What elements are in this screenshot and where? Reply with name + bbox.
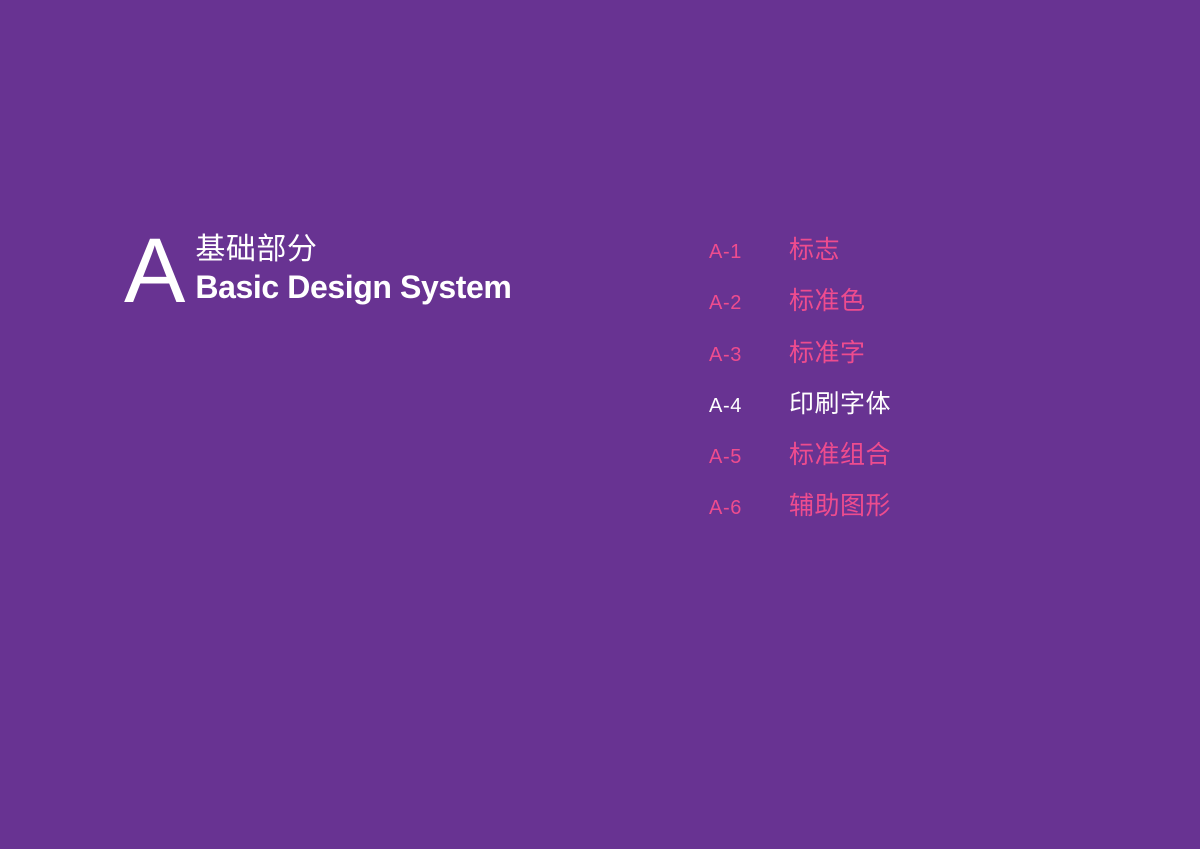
contents-label: 标准色 <box>789 275 866 326</box>
contents-row-a-2[interactable]: A-2 标准色 <box>709 275 891 326</box>
contents-label: 标准字 <box>789 327 866 378</box>
contents-row-a-4[interactable]: A-4 印刷字体 <box>709 378 891 429</box>
contents-code: A-6 <box>709 483 789 534</box>
contents-label: 标志 <box>789 224 840 275</box>
contents-code: A-5 <box>709 432 789 483</box>
section-title-chinese: 基础部分 <box>195 232 511 269</box>
contents-code: A-4 <box>709 381 789 432</box>
contents-row-a-5[interactable]: A-5 标准组合 <box>709 429 891 480</box>
contents-label: 标准组合 <box>789 429 891 480</box>
contents-row-a-3[interactable]: A-3 标准字 <box>709 327 891 378</box>
contents-code: A-3 <box>709 330 789 381</box>
section-title-block: A 基础部分 Basic Design System <box>124 228 511 314</box>
section-title-text-group: 基础部分 Basic Design System <box>195 232 511 305</box>
contents-code: A-1 <box>709 227 789 278</box>
contents-label: 辅助图形 <box>789 480 891 531</box>
brand-guideline-divider-page: A 基础部分 Basic Design System A-1 标志 A-2 标准… <box>0 0 1200 849</box>
contents-row-a-1[interactable]: A-1 标志 <box>709 224 891 275</box>
contents-label: 印刷字体 <box>789 378 891 429</box>
contents-code: A-2 <box>709 278 789 329</box>
section-title-english: Basic Design System <box>195 270 511 306</box>
section-letter: A <box>124 229 184 314</box>
contents-row-a-6[interactable]: A-6 辅助图形 <box>709 480 891 531</box>
contents-list: A-1 标志 A-2 标准色 A-3 标准字 A-4 印刷字体 A-5 标准组合… <box>709 224 891 532</box>
